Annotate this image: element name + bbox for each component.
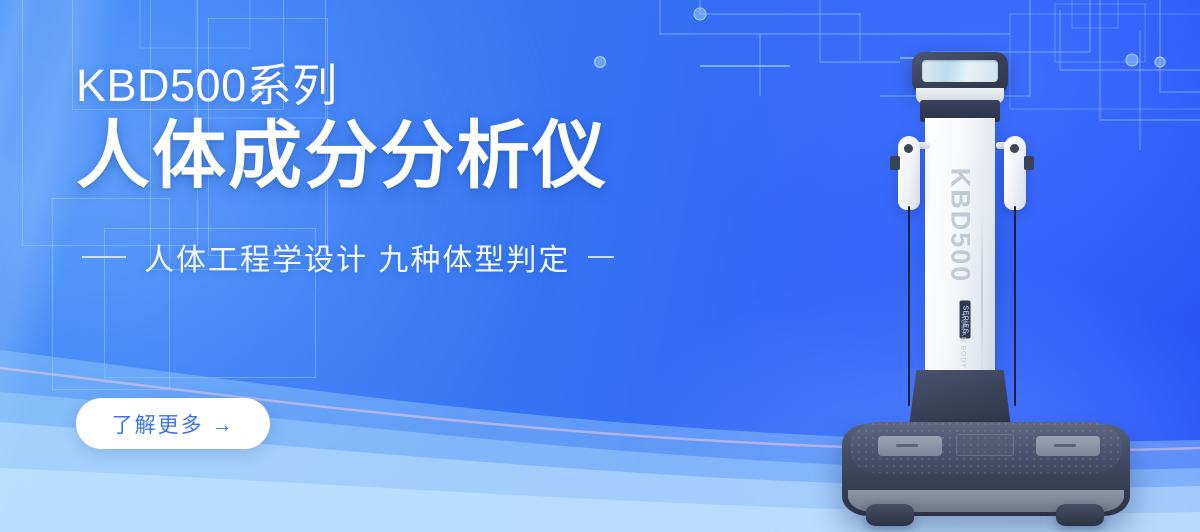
- subtitle-text: 人体工程学设计 九种体型判定: [144, 235, 570, 279]
- device-leveling-foot-left: [866, 504, 914, 526]
- device-cable-left: [908, 206, 910, 406]
- device-handle-left: [898, 136, 920, 210]
- subtitle-dash-right: [588, 256, 614, 258]
- eyebrow-text: KBD500系列: [76, 62, 716, 111]
- device-leveling-foot-right: [1056, 504, 1104, 526]
- device-column: KBD500 SERIES HUMAN BODY COMPOSITION ANA…: [925, 118, 995, 408]
- page-title: 人体成分分析仪: [76, 115, 716, 198]
- device-handle-right: [1004, 136, 1026, 210]
- device-screen: [922, 60, 998, 82]
- device-foot-electrode-left: [878, 436, 942, 456]
- subtitle-row: 人体工程学设计 九种体型判定: [82, 235, 716, 279]
- subtitle-dash-left: [82, 256, 126, 258]
- learn-more-button[interactable]: 了解更多 →: [76, 398, 270, 449]
- hero-copy-block: KBD500系列 人体成分分析仪 人体工程学设计 九种体型判定: [76, 62, 716, 279]
- column-seam: [981, 214, 983, 374]
- device-foot-electrode-right: [1036, 436, 1100, 456]
- device-base-center-panel: [956, 434, 1014, 456]
- learn-more-label: 了解更多 →: [112, 409, 235, 439]
- body-composition-analyzer-device: KBD500 SERIES HUMAN BODY COMPOSITION ANA…: [820, 38, 1150, 518]
- device-cable-right: [1014, 206, 1016, 406]
- column-brand-text: KBD500: [945, 131, 976, 321]
- product-hero-banner: KBD500 SERIES HUMAN BODY COMPOSITION ANA…: [0, 0, 1200, 532]
